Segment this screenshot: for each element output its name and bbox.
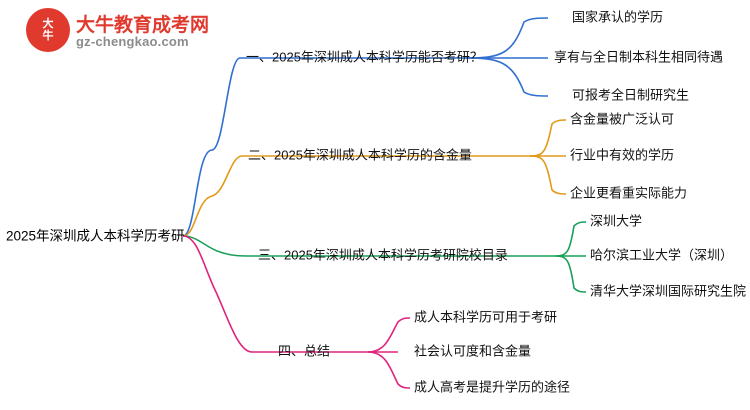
- mindmap-leaf-2-2[interactable]: 行业中有效的学历: [570, 149, 674, 162]
- mindmap-leaf-3-1[interactable]: 深圳大学: [590, 215, 642, 228]
- mindmap-leaf-1-3[interactable]: 可报考全日制研究生: [572, 89, 689, 102]
- mindmap-branch-3[interactable]: 三、2025年深圳成人本科学历考研院校目录: [258, 249, 508, 262]
- mindmap-leaf-3-3[interactable]: 清华大学深圳国际研究生院: [590, 285, 746, 298]
- mindmap-leaf-1-1[interactable]: 国家承认的学历: [572, 11, 663, 24]
- mindmap-leaf-4-1[interactable]: 成人本科学历可用于考研: [414, 311, 557, 324]
- mindmap-leaf-4-2[interactable]: 社会认可度和含金量: [414, 345, 531, 358]
- mindmap-root-node[interactable]: 2025年深圳成人本科学历考研: [6, 229, 185, 243]
- mindmap-leaf-3-2[interactable]: 哈尔滨工业大学（深圳）: [590, 249, 733, 262]
- mindmap-leaf-2-1[interactable]: 含金量被广泛认可: [570, 113, 674, 126]
- mindmap-canvas: 大牛 大牛教育成考网 gz-chengkao.com: [0, 0, 750, 410]
- mindmap-branch-4[interactable]: 四、总结: [278, 345, 330, 358]
- mindmap-leaf-1-2[interactable]: 享有与全日制本科生相同待遇: [554, 51, 723, 64]
- mindmap-branch-2[interactable]: 二、2025年深圳成人本科学历的含金量: [248, 149, 472, 162]
- mindmap-branch-1[interactable]: 一、2025年深圳成人本科学历能否考研？: [246, 51, 483, 64]
- mindmap-leaf-4-3[interactable]: 成人高考是提升学历的途径: [414, 381, 570, 394]
- mindmap-leaf-2-3[interactable]: 企业更看重实际能力: [570, 187, 687, 200]
